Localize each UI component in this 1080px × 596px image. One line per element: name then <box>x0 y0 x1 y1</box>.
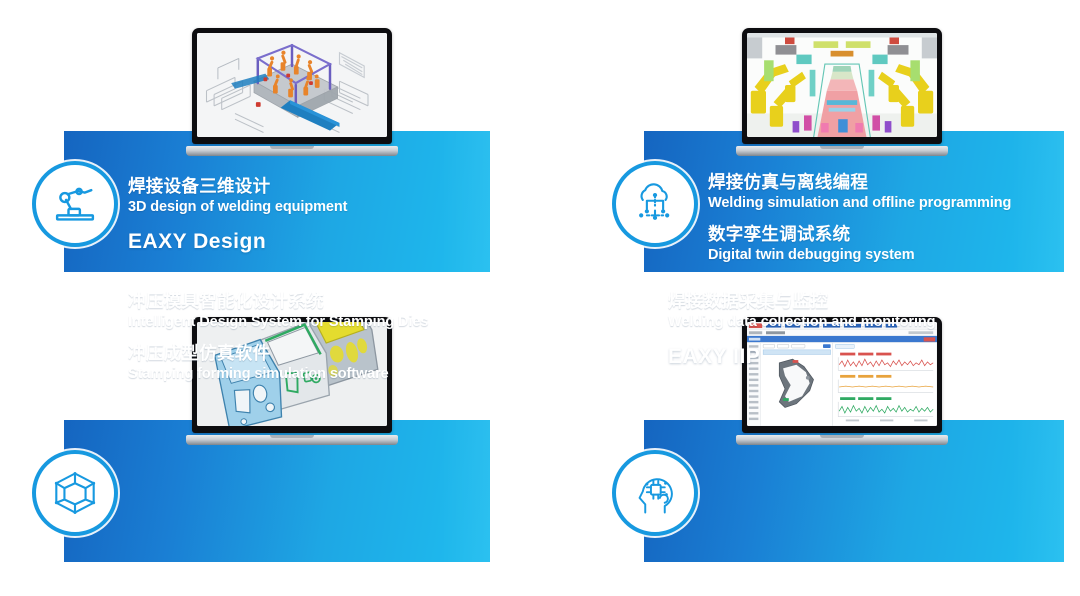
text-group: 冲压成型仿真软件 Stamping forming simulation sof… <box>128 341 508 384</box>
laptop-mockup <box>736 28 948 156</box>
card-data-monitoring[interactable]: 焊接数据采集与监控 Welding data collection and mo… <box>540 289 1080 596</box>
laptop-mockup <box>186 28 398 156</box>
title-cn: 冲压成型仿真软件 <box>128 341 508 365</box>
title-cn: 冲压模具智能化设计系统 <box>128 289 508 313</box>
ai-brain-chip-icon <box>612 450 698 536</box>
brand-name: EAXY IIP <box>668 343 1048 370</box>
text-group: 焊接设备三维设计 3D design of welding equipment <box>128 174 508 217</box>
title-en: 3D design of welding equipment <box>128 198 508 217</box>
card-stamping-dies[interactable]: 冲压模具智能化设计系统 Intelligent Design System fo… <box>0 289 540 596</box>
text-group: 焊接仿真与离线编程 Welding simulation and offline… <box>708 170 1080 213</box>
laptop-base <box>736 146 948 156</box>
laptop-base <box>186 435 398 445</box>
text-group: 焊接数据采集与监控 Welding data collection and mo… <box>668 289 1048 332</box>
welding-robot-arm-icon <box>32 161 118 247</box>
laptop-lid <box>192 28 392 144</box>
title-en: Welding simulation and offline programmi… <box>708 194 1080 213</box>
laptop-lid <box>742 28 942 144</box>
card-text-block: 焊接数据采集与监控 Welding data collection and mo… <box>668 289 1048 370</box>
card-text-block: 焊接设备三维设计 3D design of welding equipment … <box>128 174 508 255</box>
title-cn: 数字孪生调试系统 <box>708 222 1080 246</box>
card-text-block: 焊接仿真与离线编程 Welding simulation and offline… <box>708 170 1080 267</box>
laptop-screen <box>197 33 387 137</box>
laptop-base <box>186 146 398 156</box>
3d-cube-icon <box>32 450 118 536</box>
title-cn: 焊接数据采集与监控 <box>668 289 1048 313</box>
laptop-base <box>736 435 948 445</box>
title-en: Welding data collection and monitoring <box>668 313 1048 332</box>
laptop-screen <box>747 33 937 137</box>
title-cn: 焊接设备三维设计 <box>128 174 508 198</box>
brand-name: EAXY Design <box>128 228 508 255</box>
text-group: 冲压模具智能化设计系统 Intelligent Design System fo… <box>128 289 508 332</box>
title-en: Intelligent Design System for Stamping D… <box>128 313 508 332</box>
title-cn: 焊接仿真与离线编程 <box>708 170 1080 194</box>
card-simulation[interactable]: 焊接仿真与离线编程 Welding simulation and offline… <box>540 0 1080 298</box>
card-3d-design[interactable]: 焊接设备三维设计 3D design of welding equipment … <box>0 0 540 298</box>
screen-art-3d-cad-welding-production-line <box>197 33 387 137</box>
infographic-stage: 焊接设备三维设计 3D design of welding equipment … <box>0 0 1080 596</box>
title-en: Digital twin debugging system <box>708 246 1080 265</box>
title-en: Stamping forming simulation software <box>128 365 508 384</box>
text-group: 数字孪生调试系统 Digital twin debugging system <box>708 222 1080 265</box>
cloud-network-icon <box>612 161 698 247</box>
card-text-block: 冲压模具智能化设计系统 Intelligent Design System fo… <box>128 289 508 386</box>
screen-art-robot-welding-simulation <box>747 33 937 137</box>
